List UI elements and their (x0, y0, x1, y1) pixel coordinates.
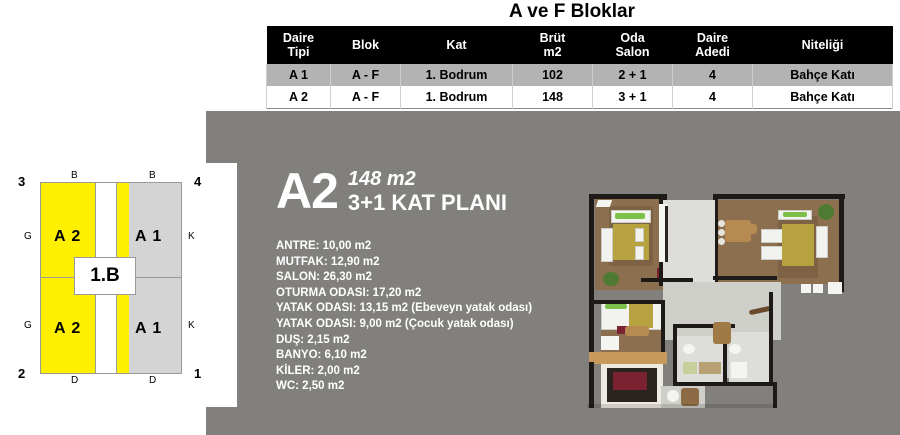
room-line: MUTFAK: 12,90 m2 (276, 255, 576, 271)
wall-segment (713, 276, 777, 280)
furniture-sofa (761, 229, 783, 243)
apartment-area: 148 m2 (348, 168, 507, 190)
header-line-1: Oda (620, 31, 644, 45)
appliance (828, 282, 842, 294)
furniture-console-lower (589, 352, 667, 364)
keyplan-core-block: 1.B (74, 257, 136, 295)
cell-daire-adedi: 4 (673, 64, 753, 86)
cell-kat: 1. Bodrum (401, 64, 513, 86)
decor-pillow (605, 304, 627, 309)
keyplan-edge-right-top: K (188, 231, 195, 242)
header-oda-salon: Oda Salon (593, 26, 673, 64)
cell-nitelik: Bahçe Katı (753, 86, 893, 109)
cell-blok: A - F (331, 64, 401, 86)
wall-segment (673, 326, 677, 386)
header-nitelik: Niteliği (753, 26, 893, 64)
room-line: SALON: 26,30 m2 (276, 270, 576, 286)
furniture-desk (625, 326, 649, 336)
room-line: KİLER: 2,00 m2 (276, 364, 576, 380)
cell-nitelik: Bahçe Katı (753, 64, 893, 86)
room-line: YATAK ODASI: 9,00 m2 (Çocuk yatak odası) (276, 317, 576, 333)
bath-mat (683, 362, 697, 374)
spec-table-body: A 1 A - F 1. Bodrum 102 2 + 1 4 Bahçe Ka… (267, 64, 893, 109)
wall-segment (641, 278, 693, 282)
room-line: ANTRE: 10,00 m2 (276, 239, 576, 255)
keyplan-edge-right-bottom: K (188, 320, 195, 331)
keyplan-core-label: 1.B (90, 265, 120, 287)
header-line-1: Blok (352, 38, 379, 52)
furniture-sofa (761, 246, 783, 260)
keyplan-edge-left-top: G (24, 231, 32, 242)
keyplan-unit-top-right: A 1 (135, 228, 162, 246)
bath-rug (699, 362, 721, 374)
wall-segment (589, 362, 594, 408)
header-line-1: Brüt (540, 31, 566, 45)
fixture-toilet (731, 362, 747, 378)
cell-daire-tipi: A 1 (267, 64, 331, 86)
wall-segment (589, 300, 665, 304)
keyplan-corner-2: 2 (18, 366, 25, 381)
keyplan-edge-top-right: B (149, 170, 156, 181)
spec-table: Daire Tipi Blok Kat Brüt m2 Oda (266, 26, 893, 109)
header-line-2: Tipi (288, 45, 310, 59)
appliance-washer (667, 390, 679, 402)
header-line-1: Daire (697, 31, 728, 45)
wall-segment (589, 194, 667, 199)
table-row: A 2 A - F 1. Bodrum 148 3 + 1 4 Bahçe Ka… (267, 86, 893, 109)
furniture-nightstand (635, 228, 644, 242)
furniture-stool (601, 336, 619, 350)
keyplan-edge-bottom-right: D (149, 375, 156, 386)
furniture-pillow (615, 213, 645, 219)
keyplan-unit-bottom-right: A 1 (135, 320, 162, 338)
door-frame (665, 206, 668, 262)
keyplan-unit-bottom-left: A 2 (54, 320, 81, 338)
furniture-nightstand (635, 246, 644, 260)
furniture-chair (718, 238, 725, 245)
spec-table-block: A ve F Bloklar Daire Tipi Blok Kat Brüt (266, 0, 878, 109)
room-line: DUŞ: 2,15 m2 (276, 333, 576, 349)
render-contents (573, 176, 895, 408)
furniture-sofa-side (816, 226, 828, 258)
keyplan-building-outline: 1.B (40, 182, 182, 374)
apartment-type-code: A2 (276, 166, 338, 216)
table-title: A ve F Bloklar (266, 0, 878, 26)
key-plan-diagram: 3 4 2 1 B B D D G G K K 1.B A 2 A 2 A 1 … (18, 168, 204, 390)
decor-curtain (629, 304, 653, 328)
cell-brut-m2: 148 (513, 86, 593, 109)
decor-window (596, 200, 612, 207)
keyplan-edge-top-left: B (71, 170, 78, 181)
header-daire-adedi: Daire Adedi (673, 26, 753, 64)
wall-segment (699, 382, 777, 386)
header-daire-tipi: Daire Tipi (267, 26, 331, 64)
keyplan-edge-bottom-left: D (71, 375, 78, 386)
headline-block: A2 148 m2 3+1 KAT PLANI (276, 166, 507, 216)
wall-segment (589, 194, 594, 300)
keyplan-corner-1: 1 (194, 366, 201, 381)
fixture-sink (683, 344, 695, 354)
table-row: A 1 A - F 1. Bodrum 102 2 + 1 4 Bahçe Ka… (267, 64, 893, 86)
apartment-subtitle: 3+1 KAT PLANI (348, 190, 507, 215)
cell-blok: A - F (331, 86, 401, 109)
headline-right: 148 m2 3+1 KAT PLANI (348, 168, 507, 216)
cell-oda-salon: 3 + 1 (593, 86, 673, 109)
room-line: BANYO: 6,10 m2 (276, 348, 576, 364)
keyplan-corner-3: 3 (18, 174, 25, 189)
wall-segment (713, 194, 845, 199)
header-brut-m2: Brüt m2 (513, 26, 593, 64)
header-kat: Kat (401, 26, 513, 64)
appliance (801, 284, 811, 293)
fixture-sink (729, 344, 741, 354)
spec-table-head: Daire Tipi Blok Kat Brüt m2 Oda (267, 26, 893, 64)
table-header-row: Daire Tipi Blok Kat Brüt m2 Oda (267, 26, 893, 64)
cell-brut-m2: 102 (513, 64, 593, 86)
room-area-list: ANTRE: 10,00 m2 MUTFAK: 12,90 m2 SALON: … (276, 239, 576, 395)
wall-segment (839, 194, 844, 292)
render-shadow (587, 404, 777, 408)
header-line-1: Kat (446, 38, 466, 52)
furniture-chair (718, 229, 725, 236)
header-line-1: Niteliği (802, 38, 844, 52)
header-blok: Blok (331, 26, 401, 64)
decor-plant (603, 272, 619, 286)
furniture-cabinet (713, 322, 731, 344)
header-line-1: Daire (283, 31, 314, 45)
furniture-chair (718, 220, 725, 227)
hall-floor-upper (663, 200, 715, 286)
cell-daire-tipi: A 2 (267, 86, 331, 109)
keyplan-edge-left-bottom: G (24, 320, 32, 331)
room-line: OTURMA ODASI: 17,20 m2 (276, 286, 576, 302)
room-line: YATAK ODASI: 13,15 m2 (Ebeveyn yatak oda… (276, 301, 576, 317)
room-line: WC: 2,50 m2 (276, 379, 576, 395)
header-line-2: Adedi (695, 45, 730, 59)
appliance (813, 284, 823, 293)
brochure-page: A ve F Bloklar Daire Tipi Blok Kat Brüt (0, 0, 900, 435)
floor-plan-render (573, 176, 895, 408)
keyplan-unit-top-left: A 2 (54, 228, 81, 246)
cell-daire-adedi: 4 (673, 86, 753, 109)
keyplan-corner-4: 4 (194, 174, 201, 189)
header-line-2: m2 (543, 45, 561, 59)
decor-feature-wall (782, 224, 814, 266)
wall-segment (769, 292, 773, 336)
cell-oda-salon: 2 + 1 (593, 64, 673, 86)
decor-greenery (783, 212, 807, 217)
decor-plant (818, 204, 834, 220)
header-line-2: Salon (615, 45, 649, 59)
furniture-nightstand (601, 228, 613, 262)
cell-kat: 1. Bodrum (401, 86, 513, 109)
furniture-bedding (613, 372, 647, 390)
furniture-dining-table-top (725, 224, 757, 234)
